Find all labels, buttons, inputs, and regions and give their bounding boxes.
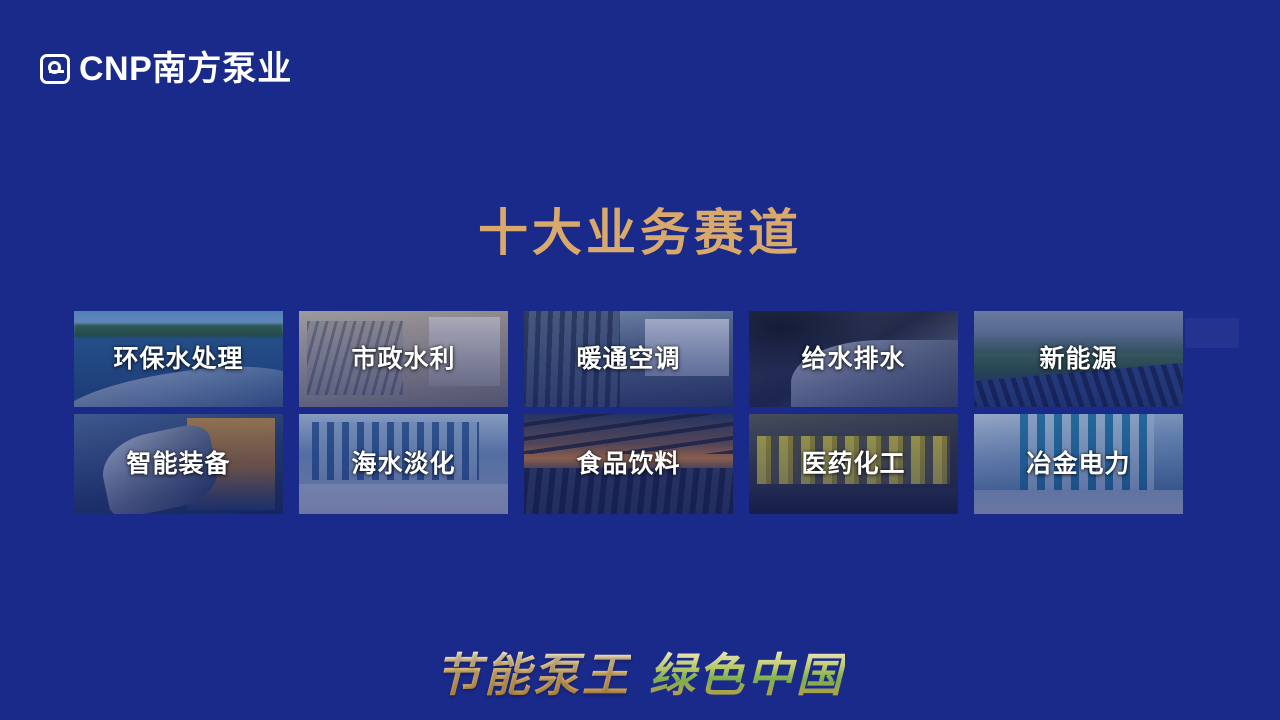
business-card[interactable]: 环保水处理 xyxy=(74,311,283,407)
footer-slogan: 节能泵王绿色中国 xyxy=(0,652,1280,698)
card-label: 食品饮料 xyxy=(576,452,680,477)
card-label: 新能源 xyxy=(1039,347,1117,372)
page-title: 十大业务赛道 xyxy=(0,206,1280,261)
brand-logo-text: CNP南方泵业 xyxy=(79,52,292,86)
brand-logo-latin: CNP xyxy=(79,50,152,88)
business-card[interactable]: 暖通空调 xyxy=(524,311,733,407)
card-label: 海水淡化 xyxy=(351,452,455,477)
decorative-plate xyxy=(1185,318,1239,348)
business-card[interactable]: 智能装备 xyxy=(74,414,283,514)
card-label: 智能装备 xyxy=(126,452,230,477)
business-card[interactable]: 海水淡化 xyxy=(299,414,508,514)
card-label: 环保水处理 xyxy=(113,347,243,372)
business-card[interactable]: 给水排水 xyxy=(749,311,958,407)
card-label: 暖通空调 xyxy=(576,347,680,372)
slide-root: CNP南方泵业 十大业务赛道 环保水处理 市政水利 暖通空调 给水排水 xyxy=(0,0,1280,720)
card-label: 冶金电力 xyxy=(1026,452,1130,477)
slogan-part-two: 绿色中国 xyxy=(649,648,845,702)
cnp-logo-mark-icon xyxy=(40,54,70,84)
brand-logo: CNP南方泵业 xyxy=(40,52,292,86)
brand-logo-chinese: 南方泵业 xyxy=(152,50,292,88)
card-label: 给水排水 xyxy=(801,347,905,372)
card-label: 市政水利 xyxy=(351,347,455,372)
business-card[interactable]: 市政水利 xyxy=(299,311,508,407)
business-card[interactable]: 医药化工 xyxy=(749,414,958,514)
slogan-part-one: 节能泵王 xyxy=(435,648,631,702)
card-label: 医药化工 xyxy=(801,452,905,477)
business-card[interactable]: 冶金电力 xyxy=(974,414,1183,514)
business-track-grid: 环保水处理 市政水利 暖通空调 给水排水 新能源 智能装备 xyxy=(74,311,1184,514)
business-card[interactable]: 新能源 xyxy=(974,311,1183,407)
business-card[interactable]: 食品饮料 xyxy=(524,414,733,514)
